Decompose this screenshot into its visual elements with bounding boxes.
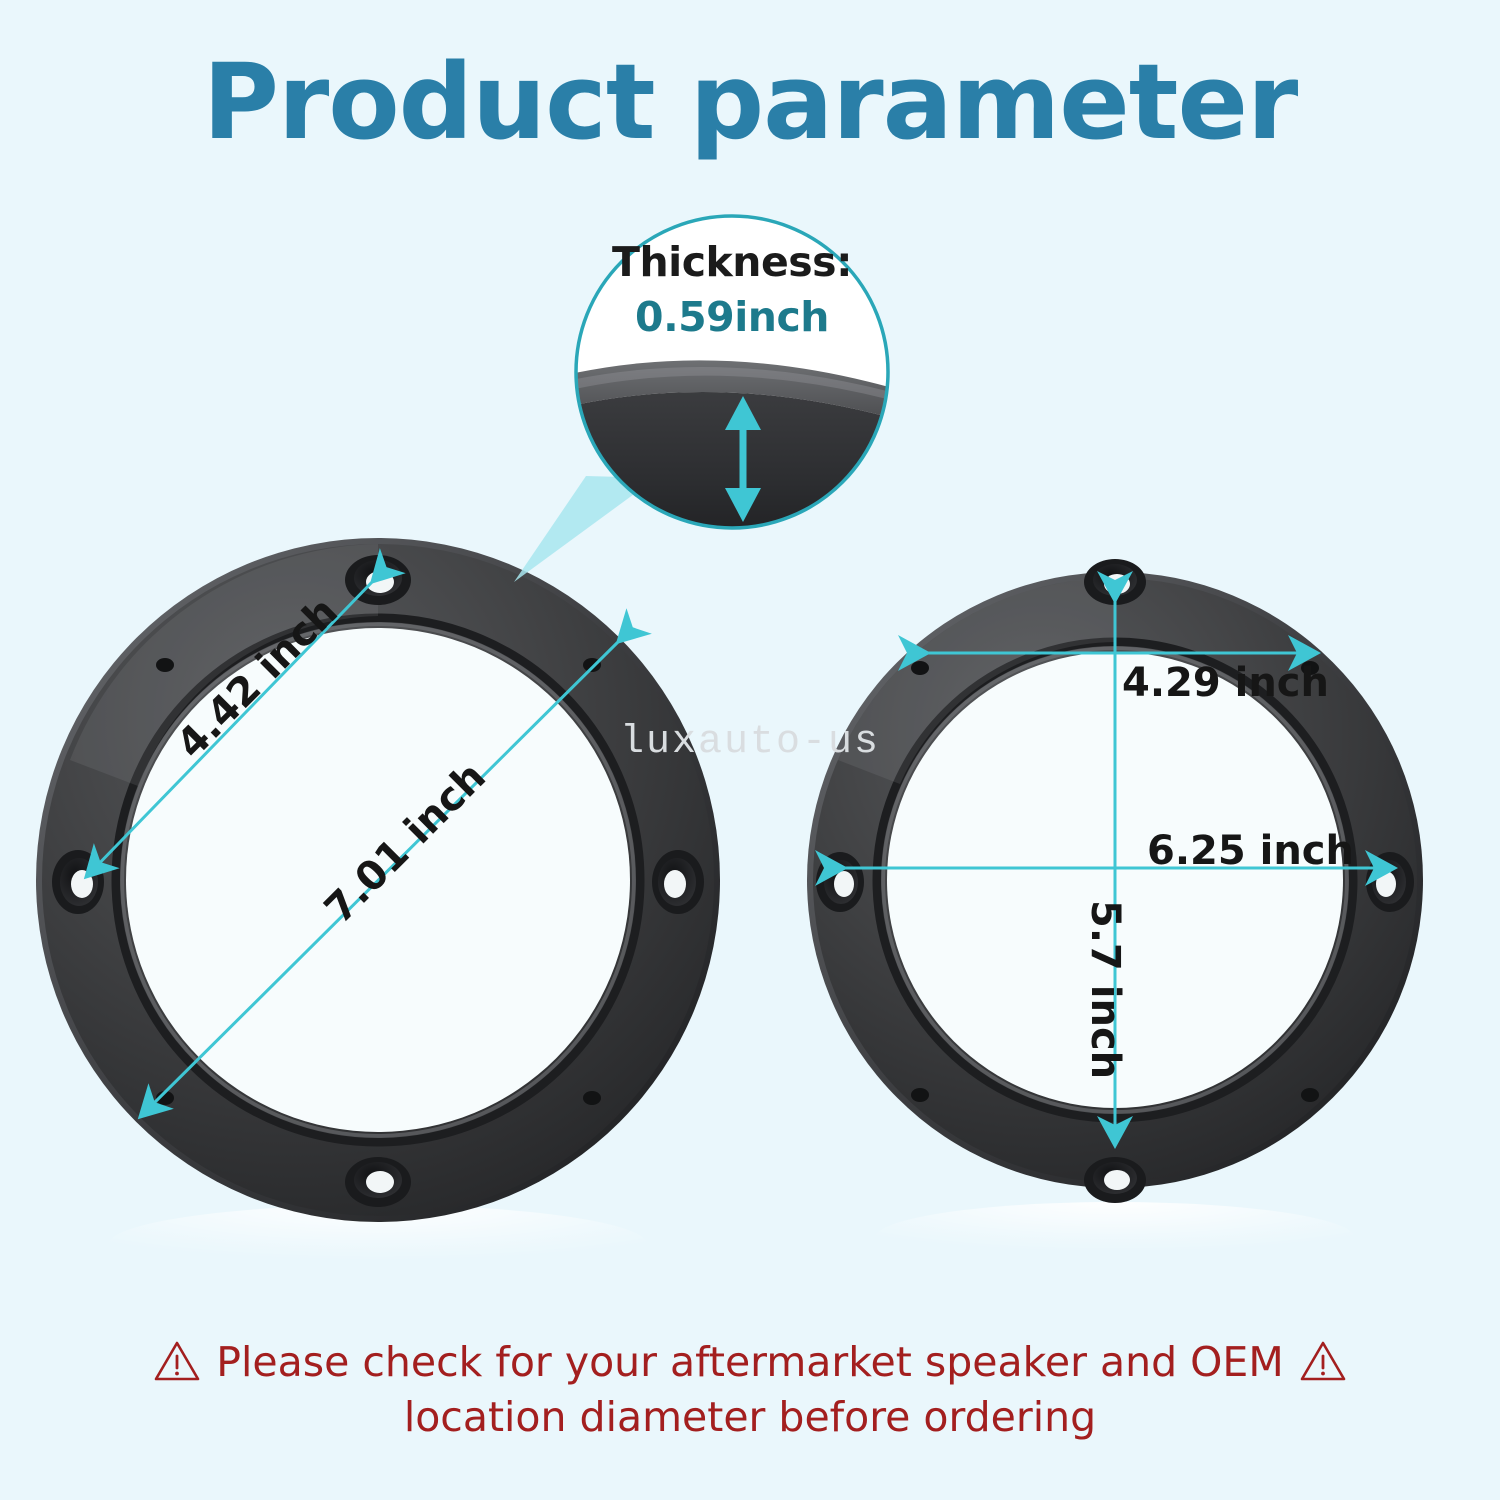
- dim-label-6-25: 6.25 inch: [1147, 828, 1354, 874]
- mounting-hole-top: [1084, 559, 1146, 605]
- ring-reflection: [875, 1202, 1355, 1274]
- small-hole-bottom-right: [1301, 1088, 1319, 1102]
- product-parameter-infographic: Product parameter: [0, 0, 1500, 1500]
- mounting-hole-right: [1366, 852, 1414, 912]
- dim-label-5-7: 5.7 inch: [1082, 900, 1128, 1079]
- mounting-hole-left: [816, 852, 864, 912]
- right-speaker-spacer: [800, 520, 1440, 1260]
- small-hole-bottom-right: [583, 1091, 601, 1105]
- mounting-hole-right: [652, 850, 704, 914]
- mounting-hole-bottom: [345, 1157, 411, 1207]
- callout-title: Thickness:: [573, 238, 891, 286]
- small-hole-top-left: [911, 661, 929, 675]
- warning-text-1: Please check for your aftermarket speake…: [216, 1338, 1283, 1386]
- small-hole-bottom-left: [911, 1088, 929, 1102]
- warning-triangle-icon: [1300, 1340, 1346, 1382]
- ordering-warning: Please check for your aftermarket speake…: [0, 1335, 1500, 1446]
- warning-text-2: location diameter before ordering: [0, 1390, 1500, 1445]
- right-spacer-graphic: [800, 520, 1440, 1260]
- small-hole-top-left: [156, 658, 174, 672]
- small-hole-bottom-left: [156, 1091, 174, 1105]
- warning-line-1: Please check for your aftermarket speake…: [0, 1335, 1500, 1390]
- thickness-callout: Thickness: 0.59inch: [573, 198, 891, 546]
- small-hole-top-right: [583, 658, 601, 672]
- mounting-hole-left: [52, 850, 104, 914]
- mounting-hole-top: [345, 555, 411, 605]
- callout-value: 0.59inch: [573, 293, 891, 341]
- warning-triangle-icon: [154, 1340, 200, 1382]
- dim-label-4-29: 4.29 inch: [1122, 660, 1329, 706]
- page-title: Product parameter: [0, 48, 1500, 157]
- mounting-hole-bottom: [1084, 1157, 1146, 1203]
